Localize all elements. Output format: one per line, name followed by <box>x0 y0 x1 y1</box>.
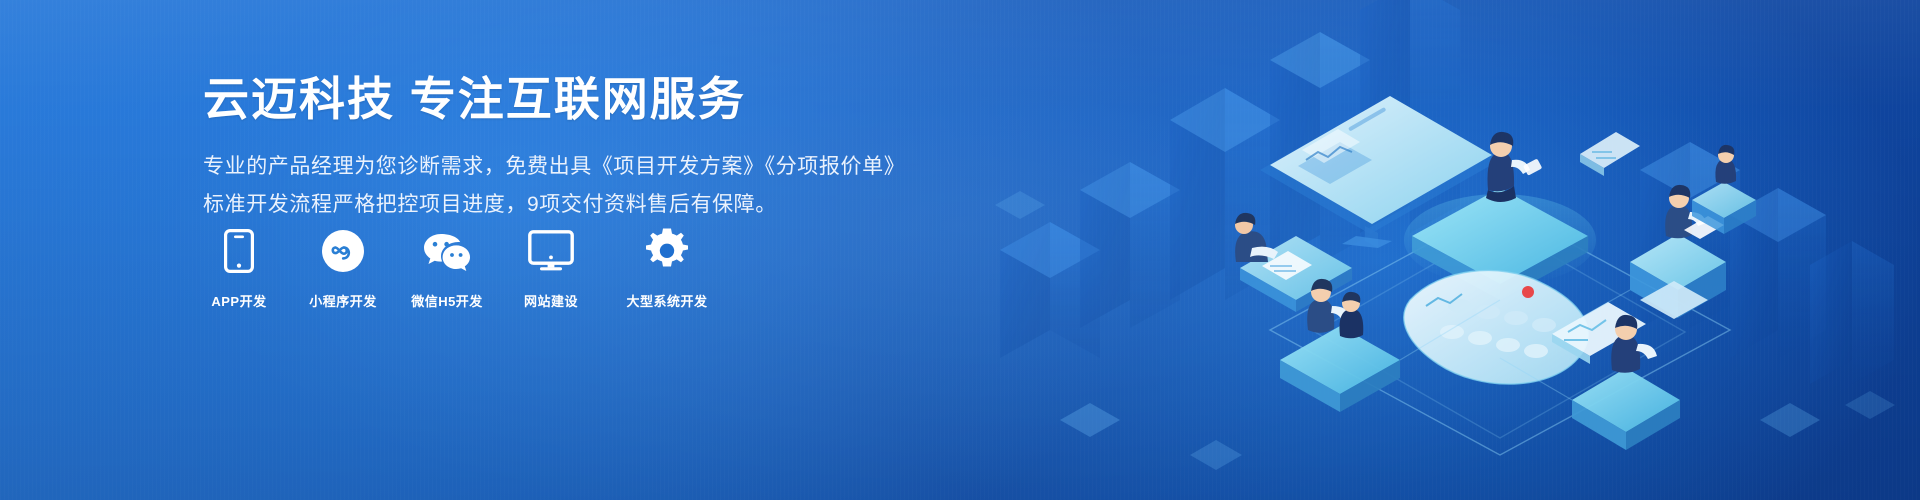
service-item-wechat-h5[interactable]: 微信H5开发 <box>411 228 483 310</box>
hero-copy: 云迈科技 专注互联网服务 专业的产品经理为您诊断需求，免费出具《项目开发方案》《… <box>203 72 923 223</box>
hero-banner: 云迈科技 专注互联网服务 专业的产品经理为您诊断需求，免费出具《项目开发方案》《… <box>0 0 1920 500</box>
subtitle-line-1: 专业的产品经理为您诊断需求，免费出具《项目开发方案》《分项报价单》 <box>203 148 923 185</box>
mini-program-icon <box>321 228 365 274</box>
service-label: 微信H5开发 <box>411 291 483 310</box>
service-label: 网站建设 <box>524 291 578 310</box>
isometric-tech-team-illustration <box>940 0 1920 500</box>
gear-icon <box>644 228 690 274</box>
mobile-phone-icon <box>224 228 254 274</box>
service-label: APP开发 <box>211 291 266 310</box>
service-label: 大型系统开发 <box>626 291 707 310</box>
service-item-mini-program[interactable]: 小程序开发 <box>307 228 379 310</box>
wechat-icon <box>421 228 473 274</box>
service-label: 小程序开发 <box>309 291 377 310</box>
page-title: 云迈科技 专注互联网服务 <box>203 72 923 126</box>
service-item-website[interactable]: 网站建设 <box>515 228 587 310</box>
service-item-large-system[interactable]: 大型系统开发 <box>619 228 715 310</box>
subtitle-line-2: 标准开发流程严格把控项目进度，9项交付资料售后有保障。 <box>203 186 923 223</box>
service-item-app[interactable]: APP开发 <box>203 228 275 310</box>
monitor-icon <box>528 228 574 274</box>
service-list: APP开发 小程序开发 <box>203 228 715 310</box>
